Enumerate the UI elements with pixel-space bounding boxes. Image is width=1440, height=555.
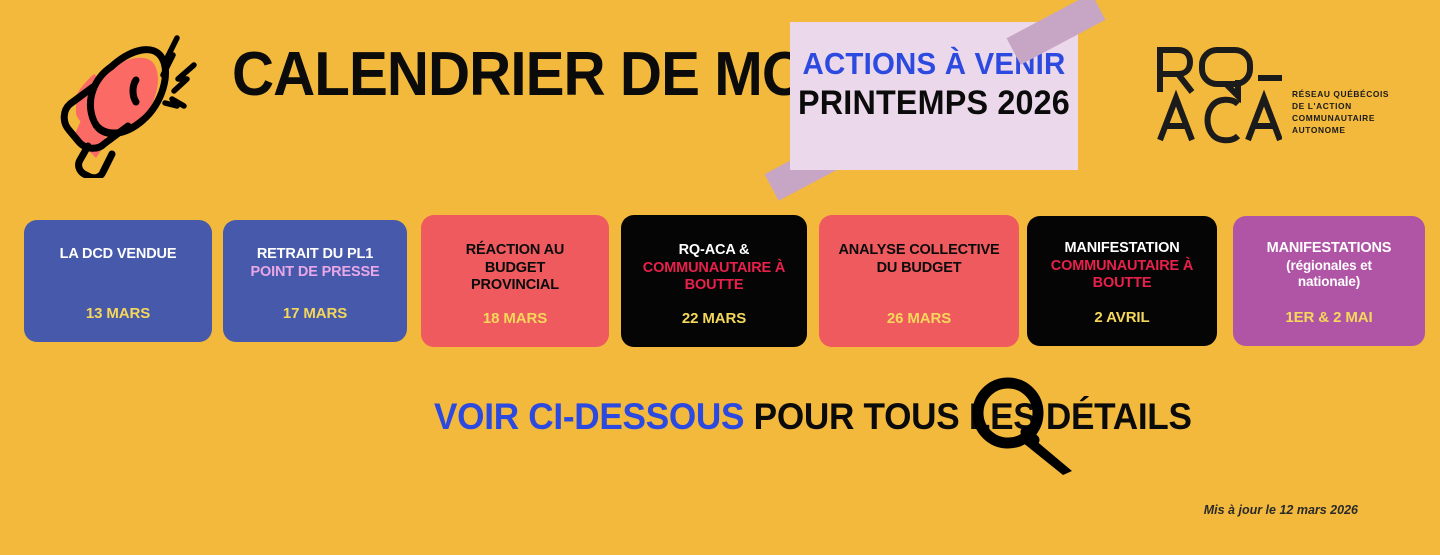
event-card-subtitle: POINT DE PRESSE <box>250 264 379 282</box>
event-card-date: 26 MARS <box>819 310 1019 327</box>
sticky-note: ACTIONS À VENIR PRINTEMPS 2026 <box>790 22 1078 170</box>
event-card-date: 13 MARS <box>24 305 212 322</box>
event-card-date: 18 MARS <box>421 310 609 327</box>
event-card-title: ANALYSE COLLECTIVE DU BUDGET <box>829 242 1009 277</box>
event-card[interactable]: ANALYSE COLLECTIVE DU BUDGET 26 MARS <box>819 215 1019 347</box>
event-card[interactable]: RQ-ACA & COMMUNAUTAIRE À BOUTTE 22 MARS <box>621 215 807 347</box>
event-card-title: MANIFESTATIONS <box>1267 240 1392 258</box>
cta-highlight: VOIR CI-DESSOUS <box>434 396 744 437</box>
last-updated-label: Mis à jour le 12 mars 2026 <box>1204 503 1358 517</box>
event-card-subtitle: COMMUNAUTAIRE À BOUTTE <box>1037 258 1207 293</box>
tagline-line-3: COMMUNAUTAIRE <box>1292 112 1396 124</box>
tagline-line-2: DE L'ACTION <box>1292 100 1396 112</box>
event-card[interactable]: MANIFESTATIONS (régionales et nationale)… <box>1233 216 1425 346</box>
event-card[interactable]: RETRAIT DU PL1 POINT DE PRESSE 17 MARS <box>223 220 407 342</box>
rqaca-logo-tagline: RÉSEAU QUÉBÉCOIS DE L'ACTION COMMUNAUTAI… <box>1292 88 1396 136</box>
event-card-date: 17 MARS <box>223 305 407 322</box>
event-card-row: LA DCD VENDUE 13 MARS RETRAIT DU PL1 POI… <box>0 212 1440 352</box>
event-card[interactable]: MANIFESTATION COMMUNAUTAIRE À BOUTTE 2 A… <box>1027 216 1217 346</box>
magnifying-glass-icon <box>960 370 1080 475</box>
event-card-date: 2 AVRIL <box>1027 309 1217 326</box>
event-card-title: RÉACTION AU BUDGET PROVINCIAL <box>440 242 590 295</box>
event-card-date: 1ER & 2 MAI <box>1233 309 1425 326</box>
event-card-title: RQ-ACA & <box>679 242 750 260</box>
event-card-subtitle: COMMUNAUTAIRE À BOUTTE <box>629 260 799 295</box>
event-card-title: LA DCD VENDUE <box>60 246 177 264</box>
rqaca-logo-mark <box>1152 44 1282 144</box>
tagline-line-4: AUTONOME <box>1292 124 1396 136</box>
event-card[interactable]: LA DCD VENDUE 13 MARS <box>24 220 212 342</box>
tagline-line-1: RÉSEAU QUÉBÉCOIS <box>1292 88 1396 100</box>
note-line-season: PRINTEMPS 2026 <box>797 86 1071 120</box>
event-card-subtitle: (régionales et nationale) <box>1269 258 1389 290</box>
megaphone-icon <box>36 18 206 178</box>
event-card-title: MANIFESTATION <box>1064 240 1179 258</box>
event-card[interactable]: RÉACTION AU BUDGET PROVINCIAL 18 MARS <box>421 215 609 347</box>
event-card-date: 22 MARS <box>621 310 807 327</box>
page-title: CALENDRIER DE MOB <box>232 44 847 106</box>
rqaca-logo: RÉSEAU QUÉBÉCOIS DE L'ACTION COMMUNAUTAI… <box>1152 44 1392 152</box>
event-card-title: RETRAIT DU PL1 <box>257 246 373 264</box>
poster-canvas: CALENDRIER DE MOB ACTIONS À VENIR PRINTE… <box>0 0 1440 555</box>
